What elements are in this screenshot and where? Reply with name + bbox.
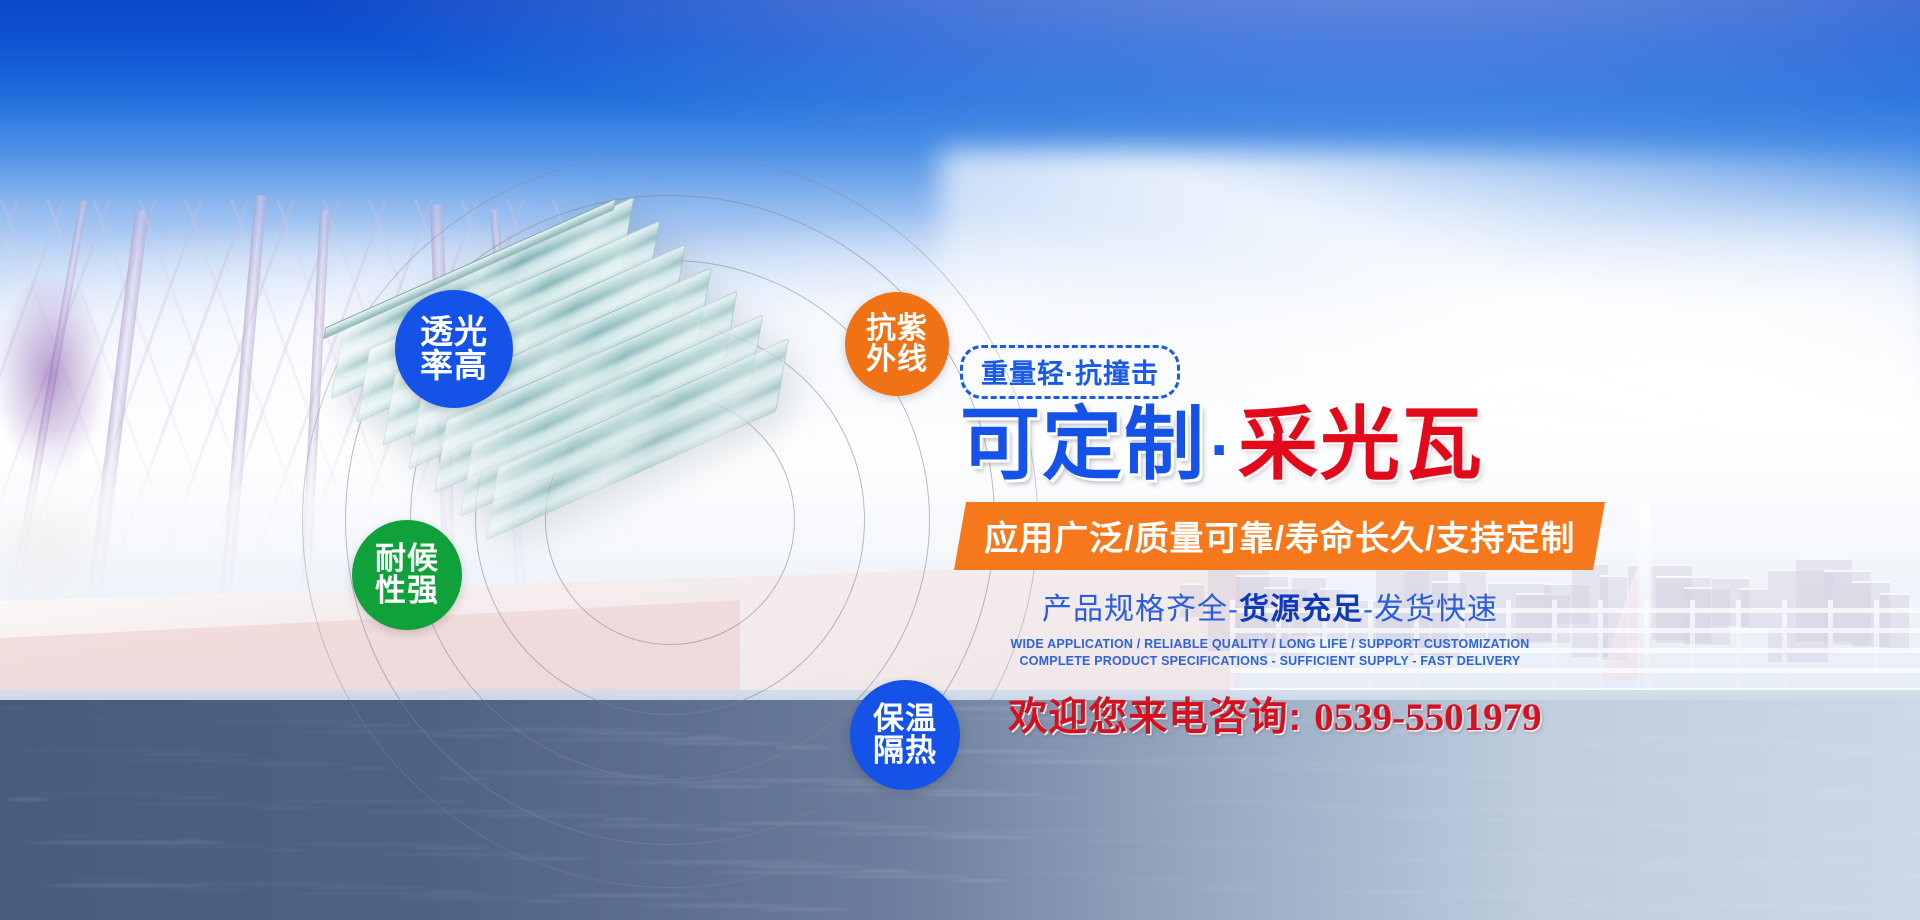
water-ripple (126, 802, 290, 805)
water-ripple (1770, 751, 1920, 754)
water-ripple (1799, 745, 1870, 748)
water-ripple (757, 908, 850, 911)
water-ripple (0, 706, 30, 709)
water-ripple (1150, 801, 1330, 804)
headline-separator-dot: · (1206, 412, 1238, 486)
water-ripple (638, 904, 810, 907)
water-ripple (1532, 743, 1650, 746)
water-ripple (155, 796, 230, 799)
water-ripple (1240, 811, 1430, 814)
water-ripple (108, 759, 310, 762)
water-ripple (1168, 844, 1310, 847)
water-ripple (1543, 899, 1610, 902)
english-tagline-1: WIDE APPLICATION / RELIABLE QUALITY / LO… (960, 637, 1580, 651)
water-ripple (1377, 858, 1450, 861)
water-ripple (1258, 854, 1410, 857)
marketing-copy-block: 重量轻·抗撞击 可定制·采光瓦 应用广泛/质量可靠/寿命长久/支持定制 产品规格… (960, 345, 1640, 742)
benefits-banner: 应用广泛/质量可靠/寿命长久/支持定制 (954, 502, 1605, 570)
water-ripple (144, 845, 270, 848)
feature-badge-line1: 透光 (420, 315, 488, 349)
water-ripple (1395, 901, 1430, 904)
water-ripple (1460, 776, 1530, 779)
page-title: 可定制·采光瓦 (960, 403, 1640, 486)
water-ripple (1752, 708, 1920, 711)
water-ripple (1287, 848, 1350, 851)
feature-badge-thermal-insulation[interactable]: 保温 隔热 (850, 680, 960, 790)
phone-label: 欢迎您来电咨询: (1008, 696, 1302, 739)
water-ripple (1788, 794, 1910, 797)
subline-part2: -发货快速 (1363, 593, 1498, 626)
english-tagline-2: COMPLETE PRODUCT SPECIFICATIONS - SUFFIC… (960, 654, 1580, 668)
water-ripple (1579, 780, 1770, 783)
water-ripple (25, 841, 230, 844)
feature-pill-tag: 重量轻·抗撞击 (960, 345, 1180, 399)
headline-product-name: 采光瓦 (1238, 400, 1484, 489)
water-ripple (1525, 856, 1630, 859)
water-ripple (7, 798, 50, 801)
water-ripple (1269, 805, 1370, 808)
water-ripple (18, 749, 210, 752)
water-ripple (1478, 819, 1510, 822)
water-ripple (1669, 790, 1870, 793)
water-ripple (1615, 866, 1730, 869)
water-ripple (1680, 741, 1830, 744)
water-ripple (1698, 784, 1810, 787)
feature-badge-line1: 抗紫 (866, 313, 928, 344)
phone-number: 0539-5501979 (1314, 696, 1542, 739)
water-ripple (1424, 895, 1570, 898)
water-ripple (1806, 837, 1890, 840)
water-ripple (1633, 909, 1710, 912)
contact-phone-line[interactable]: 欢迎您来电咨询: 0539-5501979 (960, 686, 1590, 742)
feature-badge-line1: 保温 (873, 703, 937, 735)
water-ripple (1597, 823, 1750, 826)
water-ripple (54, 835, 170, 838)
supply-subline: 产品规格齐全-货源充足-发货快速 (960, 584, 1580, 628)
feature-badge-uv-resistance[interactable]: 抗紫 外线 (845, 292, 949, 396)
water-ripple (1651, 747, 1690, 750)
water-ripple (400, 896, 530, 899)
water-ripple (548, 894, 710, 897)
feature-badge-line2: 率高 (420, 349, 488, 383)
feature-badge-line2: 隔热 (873, 735, 937, 767)
water-ripple (1049, 840, 1270, 843)
water-ripple (1251, 762, 1390, 765)
water-ripple (1781, 907, 1890, 910)
water-ripple (72, 878, 150, 881)
water-ripple (43, 884, 210, 887)
water-ripple (1067, 883, 1250, 886)
water-ripple (137, 753, 250, 756)
promo-banner: 透光 率高 抗紫 外线 耐候 性强 保温 隔热 重量轻·抗撞击 可定制·采光瓦 … (0, 0, 1920, 920)
water-ripple (1121, 807, 1190, 810)
water-ripple (1406, 852, 1590, 855)
feature-badge-weather-resistance[interactable]: 耐候 性强 (352, 520, 462, 630)
water-ripple (1507, 813, 1650, 816)
subline-part1: 产品规格齐全- (1042, 593, 1239, 626)
feature-badge-line2: 性强 (375, 575, 439, 607)
water-ripple (1871, 712, 1920, 715)
water-ripple (1341, 772, 1490, 775)
feature-badge-line1: 耐候 (375, 543, 439, 575)
water-ripple (1734, 870, 1770, 873)
water-ripple (162, 888, 250, 891)
water-ripple (1222, 768, 1450, 771)
water-ripple (1853, 874, 1920, 877)
feature-badge-light-transmittance[interactable]: 透光 率高 (395, 290, 513, 408)
headline-customizable: 可定制 (960, 400, 1206, 489)
water-ripple (36, 792, 190, 795)
water-ripple (1496, 862, 1690, 865)
water-ripple (1835, 831, 1920, 834)
water-ripple (1305, 891, 1530, 894)
water-ripple (281, 892, 490, 895)
water-ripple (1662, 903, 1850, 906)
water-ripple (1889, 755, 1920, 758)
water-ripple (1716, 827, 1790, 830)
water-ripple (90, 716, 130, 719)
water-ripple (1103, 764, 1210, 767)
water-ripple (1186, 887, 1290, 890)
feature-badge-line2: 外线 (866, 344, 928, 375)
water-ripple (519, 900, 570, 903)
water-ripple (1359, 815, 1470, 818)
water-ripple (1514, 905, 1670, 908)
subline-strong: 货源充足 (1239, 593, 1363, 626)
benefits-banner-text: 应用广泛/质量可靠/寿命长久/支持定制 (984, 511, 1575, 560)
water-ripple (1096, 877, 1190, 880)
